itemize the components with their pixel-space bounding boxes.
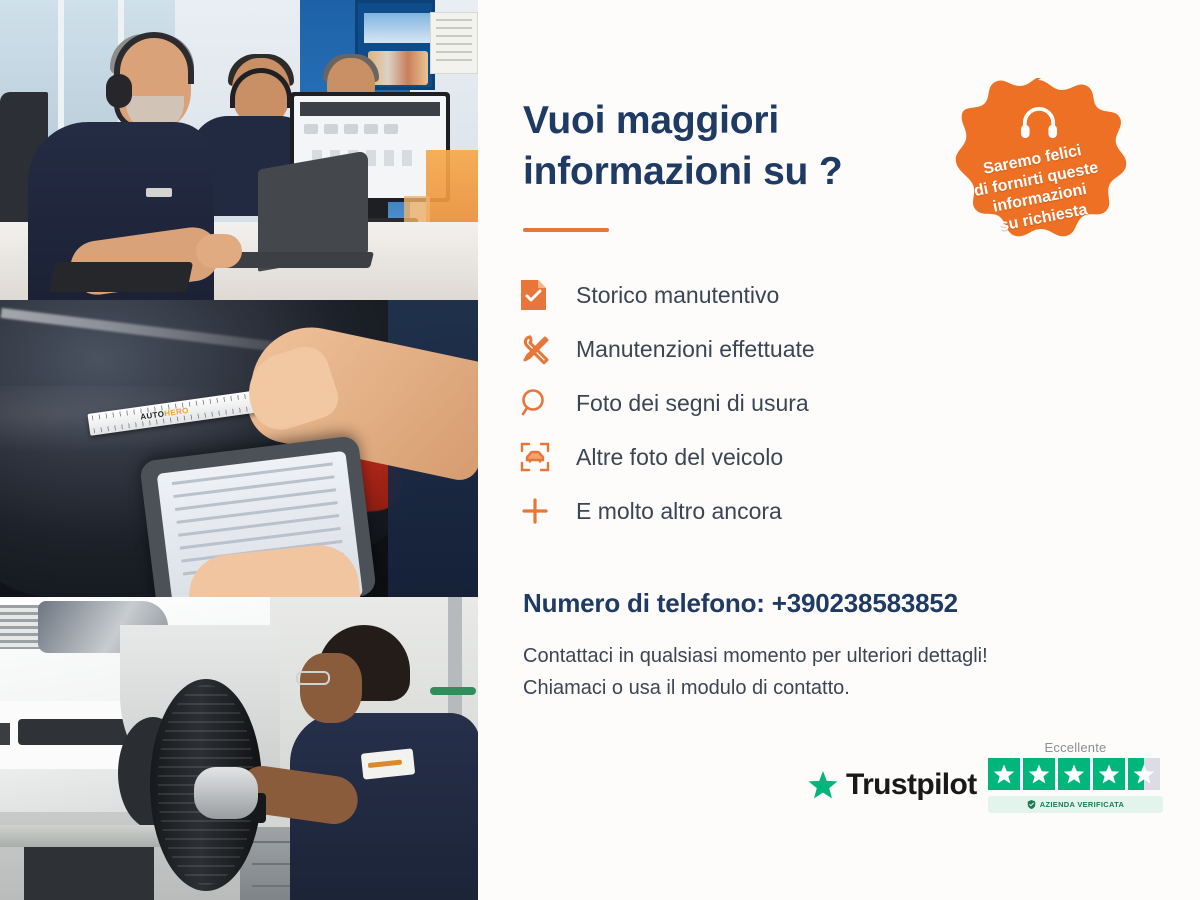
- headline-line-2: informazioni su ?: [523, 146, 953, 197]
- feature-label: Manutenzioni effettuate: [576, 336, 815, 363]
- feature-item-molto-altro: E molto altro ancora: [520, 484, 980, 538]
- trustpilot-star-icon: [808, 770, 838, 800]
- info-on-request-badge: Saremo felici di fornirti queste informa…: [938, 78, 1138, 290]
- contact-line-2: Chiamaci o usa il modulo di contatto.: [523, 672, 988, 704]
- feature-item-storico-manutentivo: Storico manutentivo: [520, 268, 980, 322]
- plus-icon: [520, 496, 576, 526]
- star-5-half: [1128, 758, 1160, 790]
- car-photo-frame-icon: [520, 442, 576, 472]
- contact-line-1: Contattaci in qualsiasi momento per ulte…: [523, 640, 988, 672]
- content-panel: Vuoi maggiori informazioni su ? Saremo f…: [478, 0, 1200, 900]
- trustpilot-wordmark: Trustpilot: [846, 768, 977, 802]
- feature-label: E molto altro ancora: [576, 498, 782, 525]
- promo-page: AUTOHERO: [0, 0, 1200, 900]
- headset-icon: [1020, 106, 1058, 140]
- verified-label: AZIENDA VERIFICATA: [1040, 800, 1124, 809]
- title-divider: [523, 228, 609, 232]
- feature-label: Altre foto del veicolo: [576, 444, 783, 471]
- star-2: [1023, 758, 1055, 790]
- shield-check-icon: [1027, 800, 1036, 809]
- vehicle-inspection-photo: AUTOHERO: [0, 300, 478, 597]
- star-3: [1058, 758, 1090, 790]
- workshop-wheel-service-photo: [0, 597, 478, 900]
- document-check-icon: [520, 279, 576, 311]
- trustpilot-rating: Eccellente AZIENDA VERIFICATA: [988, 740, 1163, 813]
- trustpilot-logo: Trustpilot: [808, 768, 977, 802]
- trustpilot-widget[interactable]: Trustpilot Eccellente AZIENDA VERIFICA: [808, 740, 1168, 845]
- feature-list: Storico manutentivo Manutenzioni effettu…: [520, 268, 980, 538]
- verified-business-badge: AZIENDA VERIFICATA: [988, 796, 1163, 813]
- headline-line-1: Vuoi maggiori: [523, 95, 953, 146]
- feature-label: Storico manutentivo: [576, 282, 779, 309]
- photo-column: AUTOHERO: [0, 0, 478, 900]
- feature-label: Foto dei segni di usura: [576, 390, 809, 417]
- star-rating: [988, 758, 1163, 790]
- feature-item-manutenzioni-effettuate: Manutenzioni effettuate: [520, 322, 980, 376]
- magnifying-glass-icon: [520, 388, 576, 418]
- contact-description: Contattaci in qualsiasi momento per ulte…: [523, 640, 988, 704]
- call-center-agents-photo: [0, 0, 478, 300]
- star-4: [1093, 758, 1125, 790]
- star-1: [988, 758, 1020, 790]
- tools-wrench-screwdriver-icon: [520, 333, 576, 365]
- phone-number-label[interactable]: Numero di telefono: +390238583852: [523, 588, 958, 619]
- feature-item-foto-segni-usura: Foto dei segni di usura: [520, 376, 980, 430]
- feature-item-altre-foto-veicolo: Altre foto del veicolo: [520, 430, 980, 484]
- rating-label: Eccellente: [988, 740, 1163, 755]
- page-title: Vuoi maggiori informazioni su ?: [523, 95, 953, 198]
